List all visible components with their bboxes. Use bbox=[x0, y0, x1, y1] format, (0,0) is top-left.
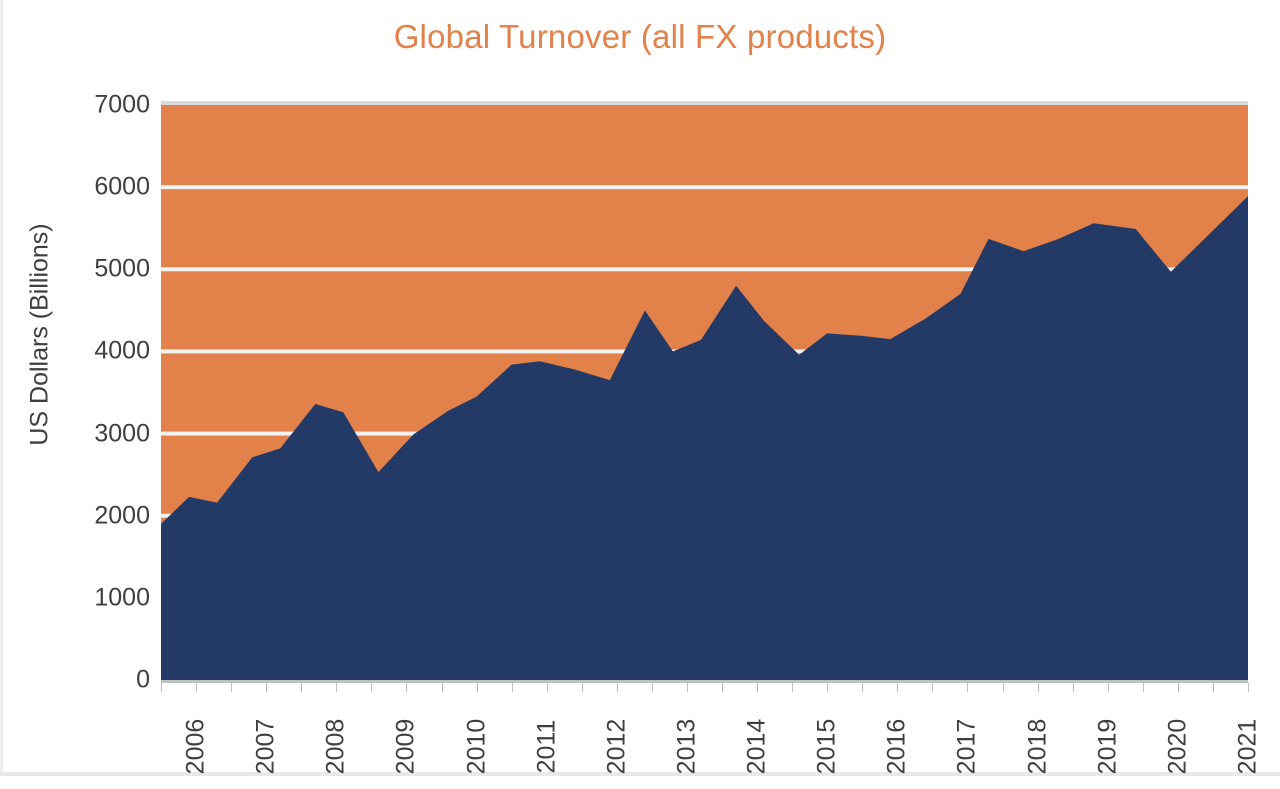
x-tick-mark bbox=[1143, 683, 1144, 692]
x-tick-mark bbox=[827, 683, 828, 692]
chart-container: Global Turnover (all FX products) US Dol… bbox=[0, 0, 1280, 776]
y-tick-label: 5000 bbox=[50, 257, 150, 282]
x-axis-ticks bbox=[0, 683, 1280, 692]
left-frame-rule bbox=[0, 0, 3, 776]
x-tick-mark bbox=[897, 683, 898, 692]
x-tick-mark bbox=[582, 683, 583, 692]
y-axis-tick-labels: 01000200030004000500060007000 bbox=[45, 0, 150, 776]
x-tick-mark bbox=[687, 683, 688, 692]
y-tick-label: 1000 bbox=[50, 585, 150, 610]
x-tick-mark bbox=[266, 683, 267, 692]
x-tick-mark bbox=[442, 683, 443, 692]
x-tick-mark bbox=[862, 683, 863, 692]
x-tick-mark bbox=[161, 683, 162, 692]
x-tick-mark bbox=[967, 683, 968, 692]
x-axis-tick-labels: 2006200720082009201020112012201320142015… bbox=[0, 692, 1280, 776]
x-tick-mark bbox=[1178, 683, 1179, 692]
x-tick-mark bbox=[196, 683, 197, 692]
x-tick-mark bbox=[406, 683, 407, 692]
x-tick-mark bbox=[1073, 683, 1074, 692]
area-series-svg bbox=[161, 105, 1248, 680]
y-tick-label: 6000 bbox=[50, 175, 150, 200]
x-tick-mark bbox=[1213, 683, 1214, 692]
x-tick-mark bbox=[1108, 683, 1109, 692]
x-tick-mark bbox=[371, 683, 372, 692]
x-tick-mark bbox=[652, 683, 653, 692]
x-tick-mark bbox=[547, 683, 548, 692]
chart-title: Global Turnover (all FX products) bbox=[0, 18, 1280, 56]
x-tick-mark bbox=[1248, 683, 1249, 692]
x-tick-mark bbox=[512, 683, 513, 692]
y-tick-label: 3000 bbox=[50, 421, 150, 446]
x-tick-mark bbox=[231, 683, 232, 692]
x-tick-mark bbox=[722, 683, 723, 692]
x-tick-mark bbox=[336, 683, 337, 692]
x-tick-mark bbox=[792, 683, 793, 692]
gridline bbox=[161, 185, 1248, 189]
y-tick-label: 2000 bbox=[50, 503, 150, 528]
x-tick-mark bbox=[617, 683, 618, 692]
x-tick-mark bbox=[932, 683, 933, 692]
x-tick-mark bbox=[1003, 683, 1004, 692]
x-tick-mark bbox=[477, 683, 478, 692]
x-tick-mark bbox=[757, 683, 758, 692]
plot-area bbox=[161, 105, 1248, 680]
y-tick-label: 4000 bbox=[50, 339, 150, 364]
x-tick-mark bbox=[301, 683, 302, 692]
y-tick-label: 7000 bbox=[50, 93, 150, 118]
x-tick-mark bbox=[1038, 683, 1039, 692]
